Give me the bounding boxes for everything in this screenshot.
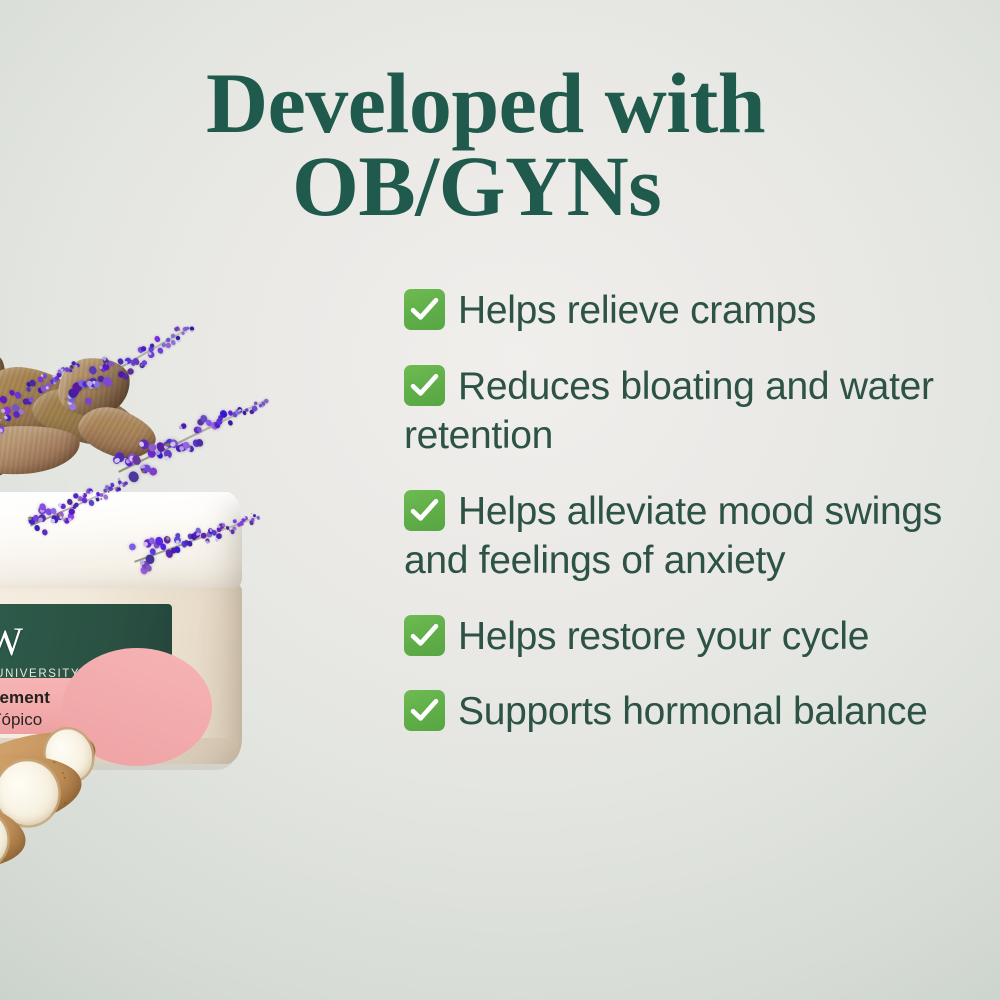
list-item: Helps alleviate mood swings and feelings… (404, 487, 970, 586)
lavender-bud (42, 529, 49, 536)
check-icon (404, 365, 445, 406)
lavender-bud-highlight (177, 339, 180, 342)
lavender-bud (87, 499, 94, 507)
benefit-text: Reduces bloating and water retention (404, 365, 934, 458)
lavender-bud (256, 516, 260, 520)
lavender-bud (0, 394, 9, 405)
marketing-graphic: Developed with OB/GYNs Helps relieve cra… (0, 0, 1000, 1000)
lavender-bud (170, 339, 177, 346)
check-icon (404, 690, 445, 731)
check-icon (404, 615, 445, 656)
lavender-calyx (100, 498, 102, 500)
benefit-text: Helps relieve cramps (458, 289, 816, 332)
lavender-bud (148, 466, 158, 477)
root-speck (64, 802, 66, 804)
benefit-text: Helps alleviate mood swings and feelings… (404, 490, 942, 583)
lavender-bud (33, 524, 41, 532)
lavender-bud (128, 543, 136, 552)
benefits-list: Helps relieve cramps Reduces bloating an… (404, 286, 970, 763)
page-title: Developed with OB/GYNs (206, 62, 846, 229)
lavender-bud (145, 564, 153, 572)
check-icon (404, 289, 445, 330)
lavender-bud (88, 364, 99, 375)
lavender-bud-highlight (90, 490, 93, 493)
lavender-bud (103, 494, 109, 500)
list-item: Helps relieve cramps (404, 286, 970, 336)
lavender-bud-highlight (253, 522, 255, 524)
lavender-bud-highlight (185, 331, 188, 334)
lavender-bud-highlight (45, 386, 49, 390)
product-photo-montage: GLOW BY HORMONE UNIVERSITY Period SOS To… (0, 352, 282, 912)
lavender-bud (232, 526, 237, 531)
root-speck (62, 772, 64, 774)
brand-name: GLOW (0, 622, 26, 662)
benefit-text: Helps restore your cycle (458, 615, 869, 658)
root-speck (2, 857, 4, 859)
benefit-text: Supports hormonal balance (458, 690, 927, 733)
lavender-bud (156, 347, 164, 355)
check-icon (404, 490, 445, 531)
lavender-bud (251, 405, 258, 412)
lavender-bud (153, 335, 161, 343)
supplement-label-es: Suplemento Tópico (0, 710, 42, 730)
lavender-sprig (107, 376, 277, 494)
lavender-bud (83, 396, 93, 406)
list-item: Reduces bloating and water retention (404, 362, 970, 461)
lavender-bud-highlight (261, 405, 264, 408)
headline-line-2: OB/GYNs (292, 145, 846, 228)
lavender-bud (14, 391, 22, 399)
headline-line-1: Developed with (206, 55, 765, 151)
supplement-label-en: Topical Supplement (0, 688, 50, 708)
lavender-bud (127, 470, 141, 484)
root-speck (63, 776, 65, 778)
lavender-bud-highlight (190, 330, 193, 333)
list-item: Supports hormonal balance (404, 687, 970, 737)
list-item: Helps restore your cycle (404, 612, 970, 662)
lavender-bud (117, 487, 121, 491)
lavender-bud (102, 376, 113, 388)
lavender-bud (228, 420, 234, 426)
lavender-bud (263, 398, 269, 404)
